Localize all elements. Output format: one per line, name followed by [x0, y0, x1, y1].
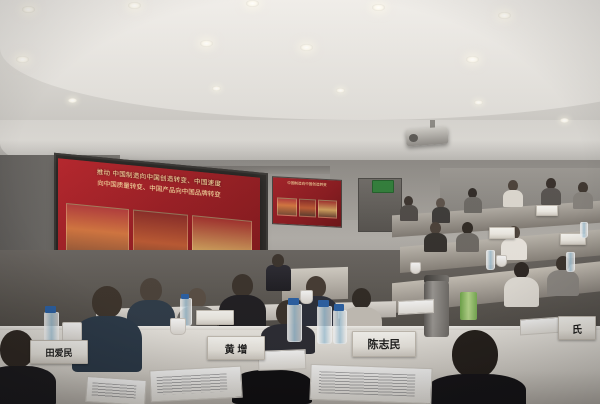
downlight-icon — [128, 2, 141, 9]
nameplate-huang-zeng: 黄 增 — [207, 336, 265, 360]
side-screen-photo-strip — [277, 197, 337, 218]
photo-scene: 推动 中国制造向中国创造转变、中国速度 向中国质量转变、中国产品向中国品牌转变 … — [0, 0, 600, 404]
bottle-cap — [318, 300, 329, 307]
paper-cup — [410, 262, 421, 274]
side-screen-title: 中国制造向中国创造转变 — [276, 180, 338, 188]
projector-lens-icon — [409, 134, 418, 142]
downlight-icon — [246, 0, 259, 7]
water-bottle — [287, 304, 302, 342]
downlight-icon — [498, 12, 511, 19]
downlight-icon — [200, 40, 213, 47]
bottle-cap — [334, 304, 344, 311]
paper-cup — [300, 290, 313, 304]
downlight-icon — [474, 100, 483, 105]
side-screen-photo-3 — [318, 200, 337, 219]
nameplate-chen-zhimin: 陈志民 — [352, 331, 416, 357]
downlight-icon — [466, 56, 479, 63]
nameplate — [489, 227, 515, 239]
downlight-icon — [372, 4, 385, 11]
paper-cup — [496, 255, 507, 267]
bottle-cap — [181, 294, 189, 299]
document-page — [398, 299, 434, 315]
speaker-head — [272, 254, 284, 267]
emergency-exit-sign — [372, 180, 394, 193]
document-page — [85, 376, 147, 404]
bottle-cap — [288, 298, 299, 305]
nameplate — [536, 205, 558, 216]
downlight-icon — [300, 44, 313, 51]
bottle-cap — [45, 306, 56, 313]
side-projection-screen: 中国制造向中国创造转变 — [272, 176, 342, 228]
water-bottle — [317, 306, 332, 344]
nameplate — [196, 310, 234, 325]
downlight-icon — [560, 118, 569, 123]
green-travel-mug — [460, 292, 477, 320]
paper-cup — [170, 318, 186, 335]
water-bottle — [333, 310, 347, 344]
water-bottle — [486, 250, 495, 270]
downlight-icon — [336, 88, 345, 93]
document-page — [520, 317, 562, 336]
downlight-icon — [212, 86, 221, 91]
water-bottle — [566, 252, 575, 272]
side-screen-photo-2 — [299, 199, 316, 218]
document-page — [149, 366, 243, 403]
ceiling-arc-band-1 — [0, 0, 600, 120]
downlight-icon — [22, 6, 35, 13]
water-bottle — [580, 222, 588, 238]
side-screen-photo-1 — [277, 197, 297, 216]
speaker-torso — [266, 265, 291, 291]
document-page — [309, 364, 432, 404]
downlight-icon — [16, 56, 29, 63]
nameplate-partial: 氏 — [558, 316, 596, 340]
nameplate-tian-aimin: 田爱民 — [30, 340, 88, 364]
downlight-icon — [68, 98, 77, 103]
